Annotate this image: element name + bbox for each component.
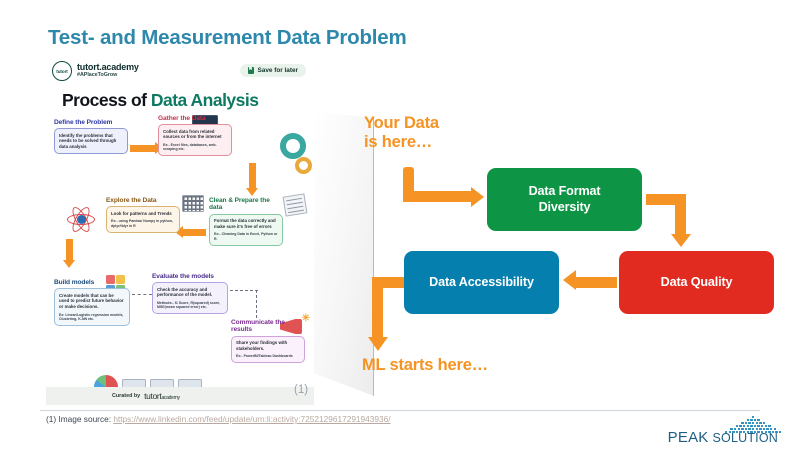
step-body: Identify the problems that needs to be s…	[54, 128, 128, 154]
flow-box-data-quality[interactable]: Data Quality	[619, 251, 774, 314]
infographic-arrow-2	[249, 163, 256, 189]
step-title: Evaluate the models	[152, 273, 228, 280]
flow-box-data-accessibility[interactable]: Data Accessibility	[404, 251, 559, 314]
step-body: Format the data correctly and make sure …	[209, 214, 283, 246]
step-body-text: Check the accuracy and performance of th…	[157, 287, 212, 298]
infographic-arrow-4	[66, 239, 73, 261]
footer-divider	[40, 410, 760, 411]
tutort-logo-icon: tutort	[52, 61, 72, 81]
step-evaluate-the-models: Evaluate the models Check the accuracy a…	[152, 273, 228, 314]
infographic-dashed-link-2	[230, 290, 258, 291]
step-title: Gather the Data	[158, 115, 232, 122]
page-title: Test- and Measurement Data Problem	[48, 26, 407, 50]
step-title: Clean & Prepare the data	[209, 197, 283, 212]
footer-brand: tutortacademy	[144, 391, 180, 401]
infographic-image: tutort tutort.academy #APlaceToGrow Save…	[46, 57, 314, 405]
logo-word-peak: Peak	[668, 429, 709, 446]
step-build-models: Build models Create models that can be u…	[54, 279, 130, 326]
slide-canvas: Test- and Measurement Data Problem tutor…	[0, 0, 800, 450]
document-icon	[283, 193, 308, 216]
atom-icon	[66, 205, 96, 233]
infographic-footer: Curated by tutortacademy	[46, 387, 314, 405]
flow-arrow-in-horizontal	[403, 191, 473, 202]
step-body: Share your findings with stakeholders. E…	[231, 336, 305, 363]
step-title: Communicate the results	[231, 319, 305, 334]
step-define-the-problem: Define the Problem Identify the problems…	[54, 119, 128, 154]
step-body-text: Collect data from related sources or fro…	[163, 129, 222, 140]
step-title: Explore the Data	[106, 197, 180, 204]
step-body-text: Format the data correctly and make sure …	[214, 218, 276, 229]
infographic-heading-accent: Data Analysis	[151, 90, 259, 110]
flow-arrow-format-to-quality-head	[671, 234, 691, 247]
gear-icon	[280, 133, 306, 159]
step-body: Create models that can be used to predic…	[54, 288, 130, 325]
footer-brand-sub: academy	[161, 395, 179, 401]
step-gather-the-data: Gather the Data Collect data from relate…	[158, 115, 232, 156]
infographic-arrow-1	[130, 145, 156, 152]
step-title: Define the Problem	[54, 119, 128, 126]
infographic-arrow-3	[182, 229, 206, 236]
step-body: Check the accuracy and performance of th…	[152, 282, 228, 314]
bookmark-icon	[248, 67, 254, 74]
step-body: Look for patterns and Trends Ex:- using …	[106, 206, 180, 232]
gear-small-icon	[295, 157, 312, 174]
flow-arrow-quality-to-accessibility	[576, 277, 617, 288]
flow-arrow-quality-to-accessibility-head	[563, 270, 576, 290]
logo-word-solution: Solution	[713, 431, 779, 445]
peak-solution-logo: PeakSolution	[662, 416, 778, 446]
flow-arrow-out-head	[368, 337, 388, 351]
curated-by-label: Curated by	[112, 393, 140, 399]
step-body: Collect data from related sources or fro…	[158, 124, 232, 156]
footnote-lead: (1) Image source:	[46, 414, 113, 424]
save-for-later-label: Save for later	[258, 67, 299, 74]
step-body-text: Create models that can be used to predic…	[59, 293, 124, 309]
ml-starts-here-note: ML starts here…	[362, 356, 488, 375]
flow-arrow-out-vertical	[372, 277, 383, 339]
infographic-brand-header: tutort tutort.academy #APlaceToGrow	[52, 61, 139, 81]
infographic-dashed-link-3	[256, 290, 257, 318]
infographic-heading: Process of Data Analysis	[62, 90, 259, 111]
footnote: (1) Image source: https://www.linkedin.c…	[46, 414, 391, 424]
infographic-dashed-link-1	[132, 294, 152, 295]
flow-box-data-format-diversity[interactable]: Data Format Diversity	[487, 168, 642, 231]
step-body-text: Look for patterns and Trends	[111, 211, 172, 216]
step-body-text: Share your findings with stakeholders.	[236, 340, 287, 351]
step-communicate-the-results: Communicate the results Share your findi…	[231, 319, 305, 363]
callout-wedge	[314, 112, 374, 396]
step-example: Ex:- using Pandas/ Numpy in python, dply…	[111, 219, 175, 228]
your-data-is-here-note: Your Data is here…	[364, 114, 439, 152]
brand-text-block: tutort.academy #APlaceToGrow	[77, 63, 139, 78]
spreadsheet-icon	[182, 195, 204, 212]
reference-marker: (1)	[294, 384, 308, 396]
step-example: Ex: Linear/Logistic regression models, C…	[59, 313, 125, 322]
peak-solution-wordmark: PeakSolution	[668, 429, 778, 446]
step-explore-the-data: Explore the Data Look for patterns and T…	[106, 197, 180, 233]
step-example: Methods:- f1 Score, R(squared) score, MS…	[157, 301, 223, 310]
save-for-later-button[interactable]: Save for later	[240, 64, 307, 77]
step-example: Ex:- PowerBI/Tableau Dashboards	[236, 354, 300, 358]
step-clean-and-prepare-the-data: Clean & Prepare the data Format the data…	[209, 197, 283, 246]
footer-brand-main: tutort	[144, 391, 161, 401]
footnote-source-link[interactable]: https://www.linkedin.com/feed/update/urn…	[113, 414, 390, 424]
brand-tagline: #APlaceToGrow	[77, 73, 139, 79]
flow-arrow-in-head	[471, 187, 484, 207]
flow-arrow-format-to-quality-vertical	[675, 194, 686, 236]
step-title: Build models	[54, 279, 130, 286]
step-example: Ex:- Excel files, databases, web-scrapin…	[163, 143, 227, 152]
step-example: Ex:- Cleaning Data in Excel, Python or R…	[214, 232, 278, 241]
infographic-heading-plain: Process of	[62, 90, 151, 110]
